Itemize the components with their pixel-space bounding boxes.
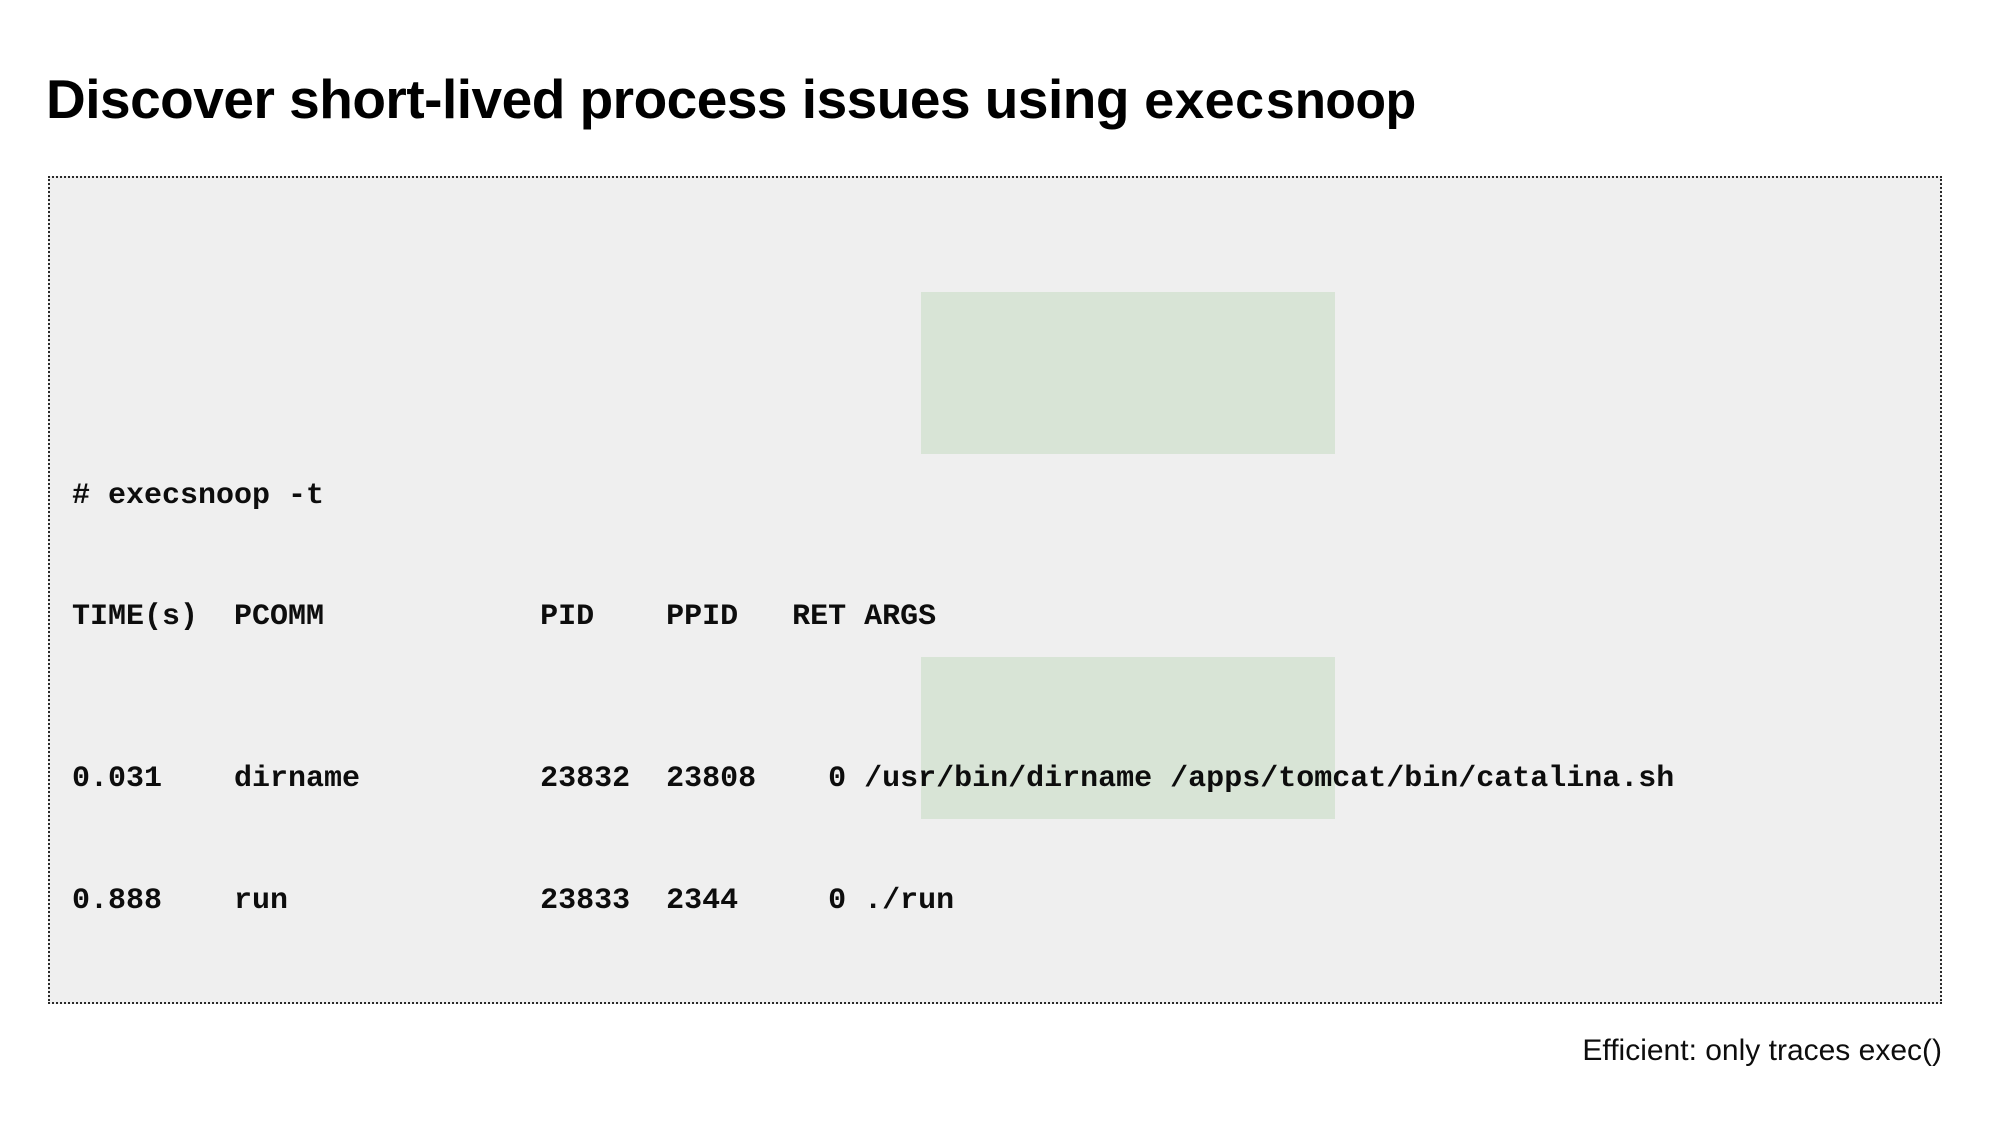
terminal-prompt-line: # execsnoop -t xyxy=(72,476,1940,517)
terminal-row: 0.888 run 23833 2344 0 ./run xyxy=(72,881,1940,922)
page-title: Discover short-lived process issues usin… xyxy=(46,67,1946,137)
highlight-block-bash xyxy=(921,292,1335,454)
slide-root: Discover short-lived process issues usin… xyxy=(0,0,1998,1125)
page-title-text: Discover short-lived process issues usin… xyxy=(46,68,1144,130)
page-title-command: execsnoop xyxy=(1144,75,1416,134)
terminal-output-box: # execsnoop -t TIME(s) PCOMM PID PPID RE… xyxy=(48,176,1942,1004)
footer-note: Efficient: only traces exec() xyxy=(1582,1032,1942,1070)
terminal-lines: # execsnoop -t TIME(s) PCOMM PID PPID RE… xyxy=(50,192,1940,1004)
terminal-header-line: TIME(s) PCOMM PID PPID RET ARGS xyxy=(72,597,1940,638)
terminal-row: 0.889 run 23833 2344 -2 /command/bash xyxy=(72,1002,1940,1004)
terminal-row: 0.031 dirname 23832 23808 0 /usr/bin/dir… xyxy=(72,759,1940,800)
